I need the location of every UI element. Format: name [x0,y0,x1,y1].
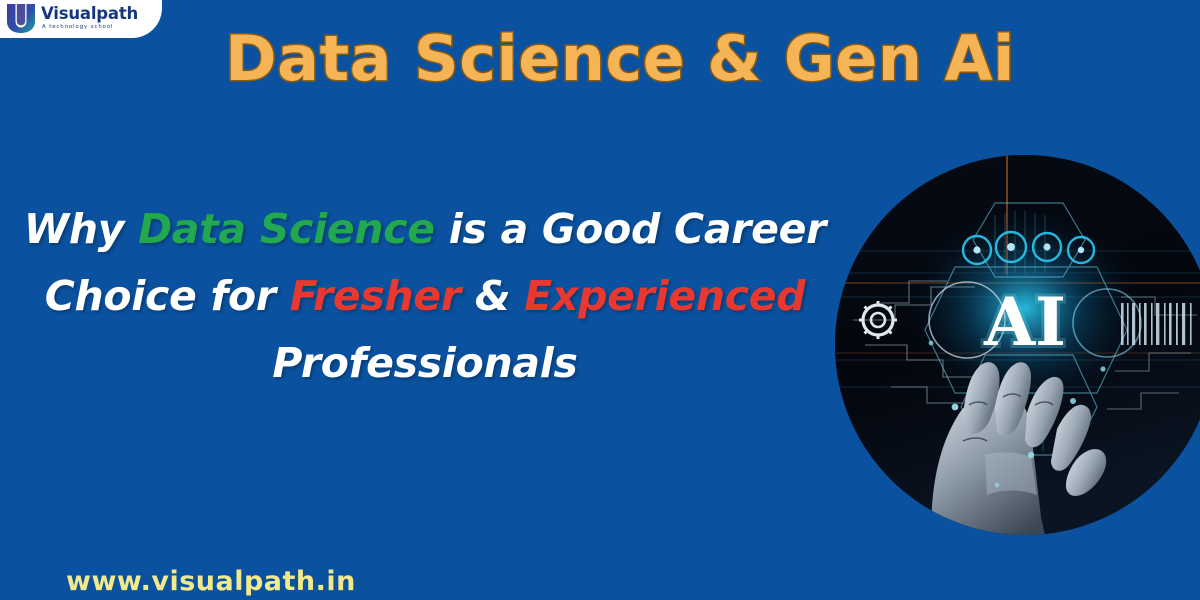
headline-l1-highlight: Data Science [138,205,435,253]
ai-hologram-label: AI AI [983,283,1066,361]
logo-brand-name: Visualpath [41,6,138,23]
headline-l1-part3: is a Good Career [435,205,826,253]
headline-l2-highlight-experienced: Experienced [524,272,805,320]
svg-text:AI: AI [983,283,1066,361]
headline-l2-highlight-fresher: Fresher [290,272,461,320]
headline-line-3: Professionals [0,330,850,397]
page-title: Data Science & Gen Ai [0,22,1200,95]
promo-banner: Visualpath A technology school Data Scie… [0,0,1200,600]
website-url[interactable]: www.visualpath.in [66,566,356,597]
ai-hologram-robot-hand-photo: AI AI [835,155,1200,535]
headline-l2-part1: Choice for [45,272,290,320]
headline-line-1: Why Data Science is a Good Career [0,196,850,263]
headline-line-2: Choice for Fresher & Experienced [0,263,850,330]
headline-l3-part1: Professionals [272,339,577,387]
headline-block: Why Data Science is a Good Career Choice… [0,196,850,397]
headline-l2-ampersand: & [461,272,524,320]
headline-l1-part1: Why [24,205,138,253]
ai-illustration: AI AI [835,155,1200,535]
